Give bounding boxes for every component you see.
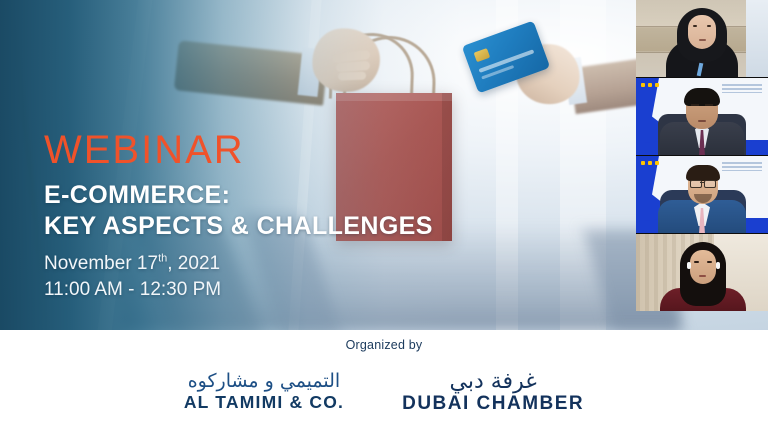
participant-4-face xyxy=(690,250,716,284)
dubai-chamber-latin-text: DUBAI CHAMBER xyxy=(402,394,584,413)
organized-by-label: Organized by xyxy=(0,338,768,352)
participant-2-mouth xyxy=(698,120,706,122)
al-tamimi-arabic-text: التميمي و مشاركوه xyxy=(188,372,341,391)
participant-4-earbud-right xyxy=(716,262,720,269)
participant-4-eye-left xyxy=(694,261,699,263)
slide-date-ordinal: th xyxy=(158,253,167,265)
logo-row: التميمي و مشاركوه AL TAMIMI & CO. غرفة د… xyxy=(0,360,768,424)
al-tamimi-latin-text: AL TAMIMI & CO. xyxy=(184,394,344,412)
footer-logo-bar: Organized by التميمي و مشاركوه AL TAMIMI… xyxy=(0,330,768,432)
participant-1-face xyxy=(688,15,716,49)
al-tamimi-logo: التميمي و مشاركوه AL TAMIMI & CO. xyxy=(184,372,344,412)
slide-date-year: , 2021 xyxy=(167,253,220,274)
participant-4-mouth xyxy=(699,275,706,277)
participant-video-strip xyxy=(636,0,768,308)
participant-3-hair xyxy=(686,165,720,181)
slide-eyebrow: WEBINAR xyxy=(44,130,564,170)
participant-2-hair xyxy=(684,88,720,106)
participant-1-mouth xyxy=(699,39,706,41)
participant-2-brow-right xyxy=(705,104,713,106)
participant-1-window xyxy=(746,0,768,77)
virtual-bg-dots-3 xyxy=(641,161,659,165)
virtual-bg-dots-2 xyxy=(641,83,659,87)
participant-4-eye-right xyxy=(707,261,712,263)
participant-tile-3[interactable] xyxy=(636,156,768,234)
slide-date: November 17th, 2021 xyxy=(44,251,564,277)
webinar-screen: WEBINAR E-COMMERCE: KEY ASPECTS & CHALLE… xyxy=(0,0,768,432)
participant-2-brow-left xyxy=(691,104,699,106)
slide-title-line-2: KEY ASPECTS & CHALLENGES xyxy=(44,211,564,242)
virtual-bg-logo-2 xyxy=(722,84,762,93)
participant-tile-4[interactable] xyxy=(636,234,768,311)
slide-date-text: November 17 xyxy=(44,253,158,274)
virtual-bg-logo-3 xyxy=(722,162,762,171)
slide-time: 11:00 AM - 12:30 PM xyxy=(44,277,564,303)
participant-1-eye-right xyxy=(707,25,711,27)
dubai-chamber-logo: غرفة دبي DUBAI CHAMBER xyxy=(402,371,584,413)
participant-3-glasses-bridge xyxy=(700,182,704,183)
participant-1-eye-left xyxy=(693,25,697,27)
dubai-chamber-arabic-text: غرفة دبي xyxy=(450,371,537,393)
participant-3-glasses-right xyxy=(704,180,716,188)
participant-tile-1[interactable] xyxy=(636,0,768,78)
slide-schedule: November 17th, 2021 11:00 AM - 12:30 PM xyxy=(44,251,564,303)
participant-tile-2[interactable] xyxy=(636,78,768,156)
slide-title-line-1: E-COMMERCE: xyxy=(44,181,230,209)
participant-4-earbud-left xyxy=(687,262,691,269)
slide-title: E-COMMERCE: KEY ASPECTS & CHALLENGES xyxy=(44,180,564,241)
slide-text-block: WEBINAR E-COMMERCE: KEY ASPECTS & CHALLE… xyxy=(44,130,564,303)
